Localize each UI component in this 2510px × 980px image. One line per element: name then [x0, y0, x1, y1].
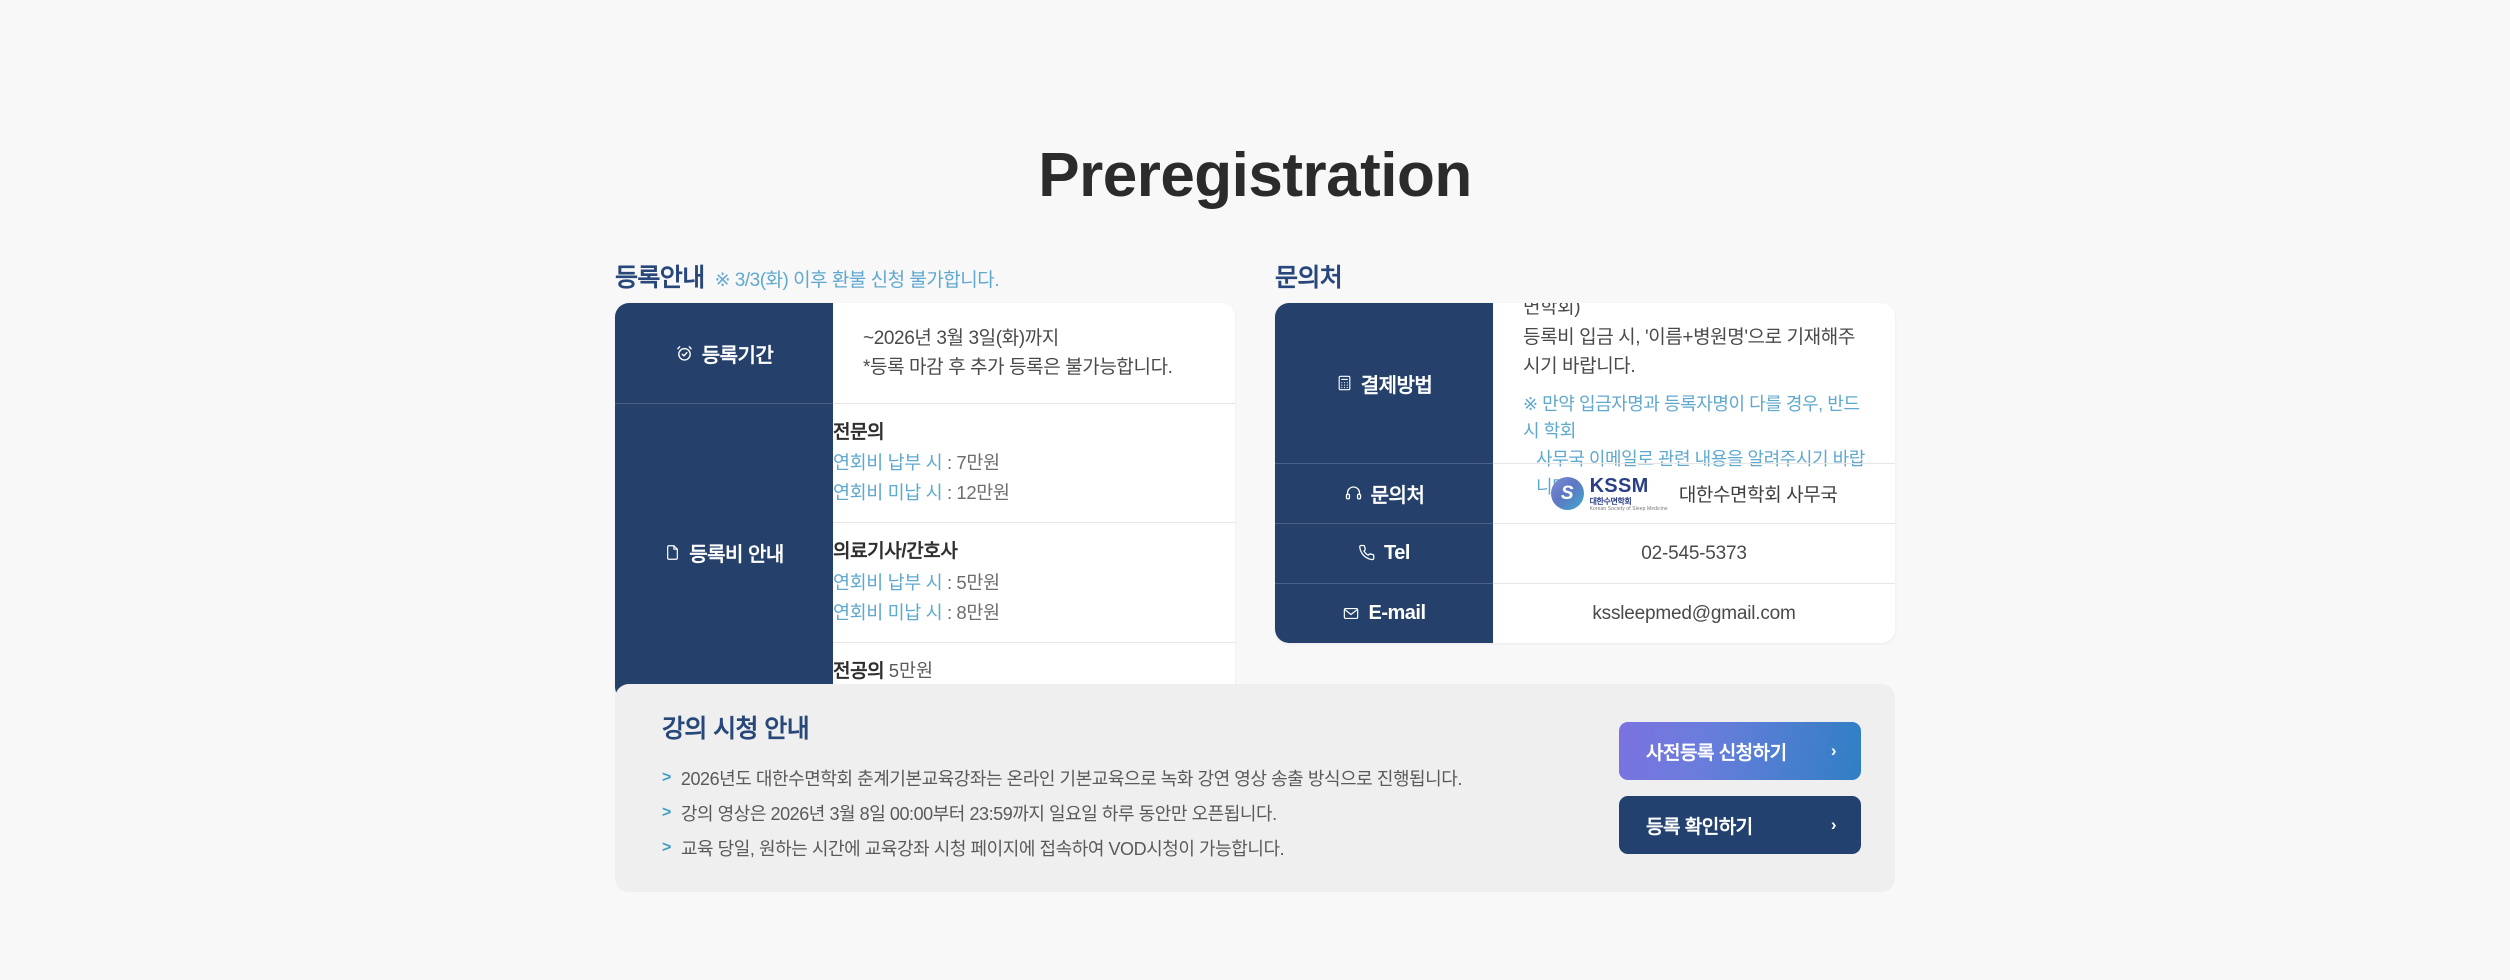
fee-item-label: 연회비 미납 시 — [833, 482, 942, 503]
payment-bank-account: 우리은행 1005-902-409705 (예금주: 대한수면학회) — [1523, 303, 1865, 323]
registration-check-label: 등록 확인하기 — [1646, 812, 1753, 839]
contact-office-name: 대한수면학회 사무국 — [1679, 480, 1838, 507]
registration-check-button[interactable]: 등록 확인하기 › — [1619, 796, 1861, 854]
fee-item-value: : 8만원 — [947, 602, 1000, 623]
chevron-right-icon: › — [1831, 815, 1836, 835]
list-item-label: 2026년도 대한수면학회 춘계기본교육강좌는 온라인 기본교육으로 녹화 강연… — [681, 762, 1462, 797]
kssm-logo-main: KSSM — [1590, 476, 1668, 496]
tel-value[interactable]: 02-545-5373 — [1641, 543, 1747, 565]
fee-item-label: 연회비 납부 시 — [833, 452, 942, 473]
registration-label-column: 등록기간 등록비 안내 — [615, 303, 833, 701]
contact-office-value: S KSSM 대한수면학회 Korean Society of Sleep Me… — [1493, 463, 1895, 523]
chevron-right-icon: › — [1831, 741, 1836, 761]
fee-group-title: 의료기사/간호사 — [833, 537, 1235, 567]
fee-item: 연회비 납부 시 : 7만원 — [833, 448, 1235, 478]
fee-item-value: : 12만원 — [947, 482, 1010, 503]
payment-deposit-naming: 등록비 입금 시, '이름+병원명'으로 기재해주시기 바랍니다. — [1523, 323, 1865, 382]
contact-section-header: 문의처 — [1275, 258, 1895, 286]
phone-icon — [1358, 544, 1376, 562]
label-registration-fee-text: 등록비 안내 — [689, 538, 784, 567]
list-item: > 교육 당일, 원하는 시간에 교육강좌 시청 페이지에 접속하여 VOD시청… — [662, 832, 1619, 867]
fee-item: 연회비 미납 시 : 12만원 — [833, 478, 1235, 508]
label-payment-method: 결제방법 — [1275, 303, 1493, 463]
label-registration-period-text: 등록기간 — [702, 339, 774, 368]
email-value-cell: kssleepmed@gmail.com — [1493, 583, 1895, 643]
payment-method-values: 우리은행 1005-902-409705 (예금주: 대한수면학회) 등록비 입… — [1493, 303, 1895, 463]
chevron-right-icon: > — [662, 762, 671, 793]
list-item-label: 교육 당일, 원하는 시간에 교육강좌 시청 페이지에 접속하여 VOD시청이 … — [681, 832, 1284, 867]
tel-value-cell: 02-545-5373 — [1493, 523, 1895, 583]
chevron-right-icon: > — [662, 832, 671, 863]
kssm-logo-sub-ko: 대한수면학회 — [1590, 498, 1668, 506]
preregistration-apply-label: 사전등록 신청하기 — [1646, 738, 1787, 765]
preregistration-apply-button[interactable]: 사전등록 신청하기 › — [1619, 722, 1861, 780]
list-item: > 강의 영상은 2026년 3월 8일 00:00부터 23:59까지 일요일… — [662, 797, 1619, 832]
registration-refund-note: ※ 3/3(화) 이후 환불 신청 불가합니다. — [715, 265, 999, 292]
content-columns: 등록안내 ※ 3/3(화) 이후 환불 신청 불가합니다. — [615, 258, 1895, 701]
preregistration-page: Preregistration 등록안내 ※ 3/3(화) 이후 환불 신청 불… — [0, 0, 2510, 980]
registration-period-line-2: *등록 마감 후 추가 등록은 불가능합니다. — [863, 353, 1205, 382]
label-payment-method-text: 결제방법 — [1361, 369, 1433, 398]
label-contact-office-text: 문의처 — [1371, 479, 1425, 508]
fee-group-title: 전공의 — [833, 661, 884, 682]
label-email-text: E-mail — [1368, 602, 1425, 625]
registration-period-values: ~2026년 3월 3일(화)까지 *등록 마감 후 추가 등록은 불가능합니다… — [833, 303, 1235, 403]
label-contact-office: 문의처 — [1275, 463, 1493, 523]
registration-section-title: 등록안내 — [615, 258, 705, 294]
registration-period-line-1: ~2026년 3월 3일(화)까지 — [863, 324, 1205, 353]
document-icon — [664, 543, 681, 562]
kssm-logo-sub-en: Korean Society of Sleep Medicine — [1590, 507, 1668, 512]
lecture-notice-content: 강의 시청 안내 > 2026년도 대한수면학회 춘계기본교육강좌는 온라인 기… — [662, 709, 1619, 867]
fee-group-title: 전문의 — [833, 418, 1235, 448]
label-registration-period: 등록기간 — [615, 303, 833, 403]
registration-info-card: 등록기간 등록비 안내 ~2026년 3월 — [615, 303, 1235, 701]
registration-column: 등록안내 ※ 3/3(화) 이후 환불 신청 불가합니다. — [615, 258, 1235, 701]
fee-item-value: : 5만원 — [947, 572, 1000, 593]
registration-section-header: 등록안내 ※ 3/3(화) 이후 환불 신청 불가합니다. — [615, 258, 1235, 286]
list-item: > 2026년도 대한수면학회 춘계기본교육강좌는 온라인 기본교육으로 녹화 … — [662, 762, 1619, 797]
page-title: Preregistration — [0, 140, 2510, 211]
headset-icon — [1344, 484, 1363, 502]
lecture-notice-panel: 강의 시청 안내 > 2026년도 대한수면학회 춘계기본교육강좌는 온라인 기… — [615, 684, 1895, 892]
chevron-right-icon: > — [662, 797, 671, 828]
fee-group-inline-value: 5만원 — [889, 660, 933, 681]
contact-label-column: 결제방법 문의처 — [1275, 303, 1493, 643]
contact-section-title: 문의처 — [1275, 258, 1342, 294]
contact-info-card: 결제방법 문의처 — [1275, 303, 1895, 643]
label-email: E-mail — [1275, 583, 1493, 643]
organization-line: S KSSM 대한수면학회 Korean Society of Sleep Me… — [1551, 476, 1838, 512]
fee-group-specialist: 전문의 연회비 납부 시 : 7만원 연회비 미납 시 : 12만원 — [833, 403, 1235, 522]
contact-column: 문의처 — [1275, 258, 1895, 701]
notice-actions: 사전등록 신청하기 › 등록 확인하기 › — [1619, 722, 1861, 854]
kssm-logo: S KSSM 대한수면학회 Korean Society of Sleep Me… — [1551, 476, 1668, 512]
lecture-notice-title: 강의 시청 안내 — [662, 709, 1619, 745]
fee-item: 연회비 미납 시 : 8만원 — [833, 598, 1235, 628]
list-item-label: 강의 영상은 2026년 3월 8일 00:00부터 23:59까지 일요일 하… — [681, 797, 1277, 832]
contact-value-column: 우리은행 1005-902-409705 (예금주: 대한수면학회) 등록비 입… — [1493, 303, 1895, 643]
registration-value-column: ~2026년 3월 3일(화)까지 *등록 마감 후 추가 등록은 불가능합니다… — [833, 303, 1235, 701]
kssm-logo-mark-icon: S — [1551, 477, 1584, 510]
fee-item-value: : 7만원 — [947, 452, 1000, 473]
calculator-icon — [1336, 374, 1353, 392]
envelope-icon — [1342, 605, 1360, 622]
fee-item-label: 연회비 미납 시 — [833, 602, 942, 623]
fee-group-technician-nurse: 의료기사/간호사 연회비 납부 시 : 5만원 연회비 미납 시 : 8만원 — [833, 522, 1235, 641]
alarm-clock-check-icon — [675, 344, 694, 363]
kssm-logo-text: KSSM 대한수면학회 Korean Society of Sleep Medi… — [1590, 476, 1668, 512]
label-registration-fee: 등록비 안내 — [615, 403, 833, 701]
fee-group-resident-line: 전공의 5만원 — [833, 657, 1235, 687]
label-tel-text: Tel — [1384, 542, 1410, 565]
fee-item-label: 연회비 납부 시 — [833, 572, 942, 593]
label-tel: Tel — [1275, 523, 1493, 583]
email-value[interactable]: kssleepmed@gmail.com — [1592, 603, 1795, 625]
fee-item: 연회비 납부 시 : 5만원 — [833, 568, 1235, 598]
payment-mismatch-note-line-1: ※ 만약 입금자명과 등록자명이 다를 경우, 반드시 학회 — [1523, 394, 1859, 442]
